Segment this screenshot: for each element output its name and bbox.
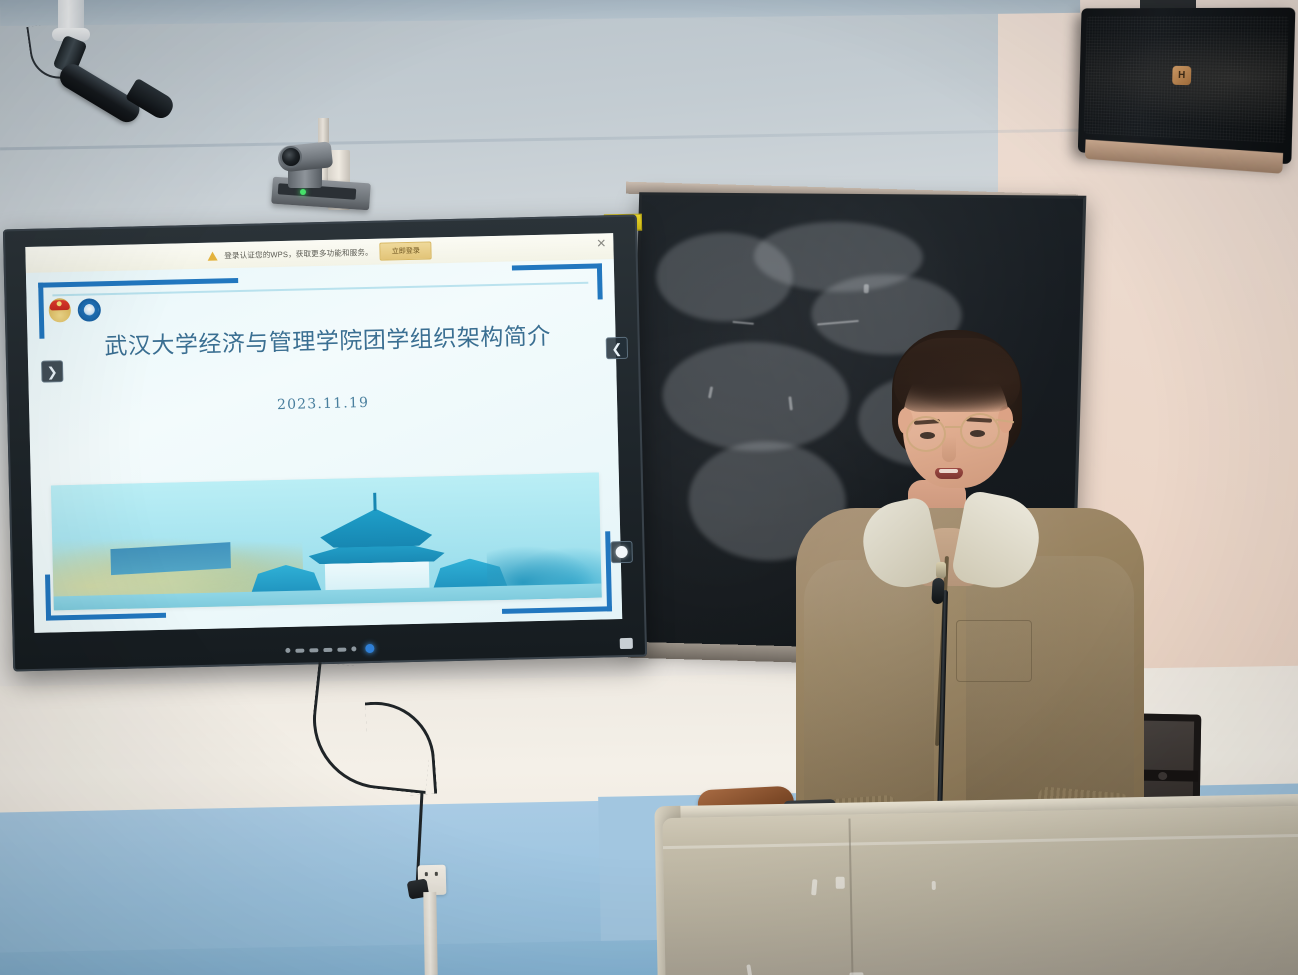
chalk-stroke <box>864 284 869 293</box>
nav-prev-button[interactable]: ❮ <box>606 337 629 360</box>
nav-home-button[interactable] <box>610 541 633 564</box>
display-port <box>620 638 633 649</box>
wps-login-button[interactable]: 立即登录 <box>380 241 432 260</box>
glasses-lens-right-icon <box>960 413 1000 449</box>
cable-conduit <box>423 892 437 975</box>
nav-next-button[interactable]: ❯ <box>41 360 64 383</box>
outlet-slot <box>425 872 428 876</box>
bezel-button[interactable] <box>309 648 318 652</box>
glasses-bridge <box>945 426 961 428</box>
close-icon[interactable]: ✕ <box>596 237 606 249</box>
warning-triangle-icon <box>207 251 217 260</box>
slide-date: 2023.11.19 <box>29 389 617 419</box>
presentation-slide[interactable]: 武汉大学经济与管理学院团学组织架构简介 2023.11.19 <box>26 259 622 633</box>
presenter <box>790 320 1150 880</box>
teeth <box>939 469 958 473</box>
podium-scuff <box>746 964 752 975</box>
glasses-lens-left-icon <box>906 416 946 452</box>
classroom-scene: H 资产编号 设备 登录认证您的WPS，获取更多功能和服务。 立即登录 ✕ <box>0 0 1298 975</box>
communist-youth-league-emblem-icon <box>49 298 72 323</box>
bezel-button[interactable] <box>285 648 290 653</box>
zipper-pull <box>936 562 946 578</box>
speaker-badge: H <box>1172 66 1191 85</box>
slide-frame-top-right <box>512 263 603 301</box>
wall-speaker: H <box>1078 8 1296 165</box>
bezel-button[interactable] <box>295 648 304 652</box>
chest-pocket <box>956 620 1032 682</box>
bezel-button[interactable] <box>337 647 346 651</box>
bezel-button[interactable] <box>323 647 332 651</box>
camera-status-led <box>300 189 306 195</box>
hair-front <box>894 338 1020 412</box>
slide-logos <box>49 297 102 322</box>
bezel-button[interactable] <box>351 646 356 651</box>
circle-icon <box>616 546 628 558</box>
wps-notice-text: 登录认证您的WPS，获取更多功能和服务。 <box>224 246 373 261</box>
chair-adjust-knob[interactable] <box>1158 772 1167 780</box>
podium-scuff <box>811 879 817 895</box>
campus-photo <box>51 473 602 611</box>
camera-lens-icon <box>280 146 302 168</box>
gooseneck-microphone-head <box>931 578 944 605</box>
wuhan-university-seal-icon <box>78 298 102 322</box>
outlet-slot <box>435 872 438 876</box>
power-indicator-icon[interactable] <box>365 644 374 653</box>
podium-scuff <box>836 877 845 889</box>
photo-library-spire <box>373 493 376 511</box>
podium-edge-highlight <box>663 834 1298 849</box>
interactive-display[interactable]: 登录认证您的WPS，获取更多功能和服务。 立即登录 ✕ 武汉大学经济与管理学院团… <box>3 215 647 672</box>
podium <box>662 806 1298 975</box>
display-screen[interactable]: 登录认证您的WPS，获取更多功能和服务。 立即登录 ✕ 武汉大学经济与管理学院团… <box>25 233 622 633</box>
podium-scuff <box>932 881 936 890</box>
